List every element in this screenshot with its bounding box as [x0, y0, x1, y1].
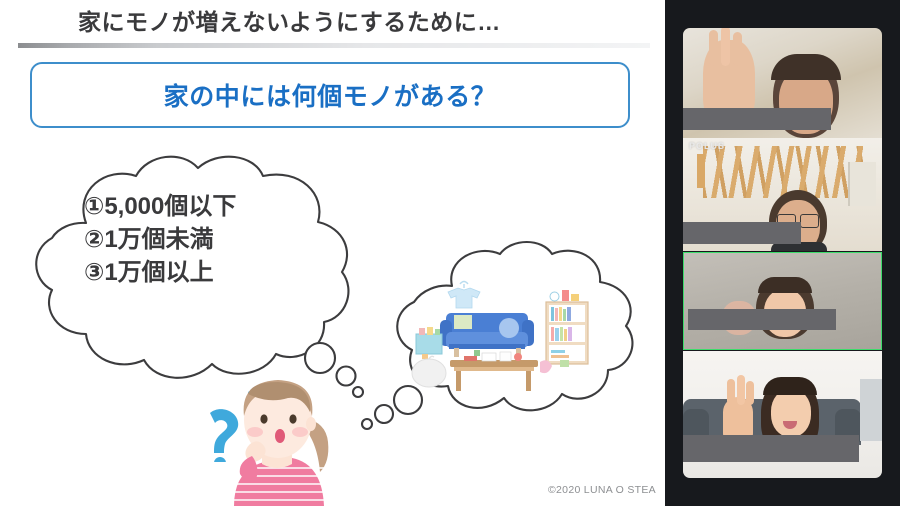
video-call-panel: POLUS: [665, 0, 900, 506]
beam-post-2: [697, 154, 705, 188]
participant-name-bar-3: [688, 309, 836, 330]
options-list: ①5,000個以下 ②1万個未満 ③1万個以上: [84, 190, 344, 289]
page-title: 家にモノが増えないようにするために…: [78, 6, 638, 38]
coffee-table-icon: [450, 350, 538, 391]
option-item-2: ②1万個未満: [84, 223, 344, 256]
participant-name-bar-2: [683, 222, 801, 244]
video-tile-2[interactable]: POLUS: [683, 138, 882, 251]
polus-watermark: POLUS: [689, 141, 725, 151]
sofa-icon: [440, 313, 534, 357]
window-2: [848, 162, 876, 206]
finger-a-1: [709, 30, 718, 66]
slide-area: 家にモノが増えないようにするために… 家の中には何個モノがある？ ①5,000個…: [0, 0, 665, 506]
finger-b-4: [737, 375, 745, 405]
finger-c-1: [733, 32, 742, 66]
question-box-text: 家の中には何個モノがある？: [164, 77, 497, 113]
character-illustration: [192, 372, 367, 506]
participant-bangs-3: [758, 277, 812, 293]
room-illustration: [404, 272, 624, 400]
video-tile-1[interactable]: [683, 28, 882, 138]
wooden-beams-2: [703, 146, 863, 198]
bookshelf-icon: [546, 290, 588, 364]
hanging-shirt-icon: [448, 282, 480, 309]
question-box: 家の中には何個モノがある？: [30, 62, 630, 128]
finger-b-1: [721, 28, 730, 66]
presentation-screen: 家にモノが増えないようにするために… 家の中には何個モノがある？ ①5,000個…: [0, 0, 900, 506]
option-item-3: ③1万個以上: [84, 256, 344, 289]
participant-name-bar-1: [683, 108, 831, 130]
title-divider: [18, 43, 650, 48]
copyright-text: ©2020 LUNA O STEA: [548, 484, 656, 496]
finger-c-4: [746, 381, 754, 405]
beanbag-icon: [412, 356, 446, 387]
participant-name-bar-4: [683, 435, 859, 462]
glasses-right-2: [800, 214, 819, 228]
participant-face-4: [771, 389, 811, 437]
finger-a-4: [727, 379, 735, 405]
participant-bangs-4: [763, 377, 817, 395]
video-tile-3-active-speaker[interactable]: [683, 252, 882, 350]
option-item-1: ①5,000個以下: [84, 190, 344, 223]
wall-panel-4: [860, 379, 882, 441]
video-tile-4[interactable]: [683, 351, 882, 478]
toy-box-icon: [416, 327, 442, 359]
